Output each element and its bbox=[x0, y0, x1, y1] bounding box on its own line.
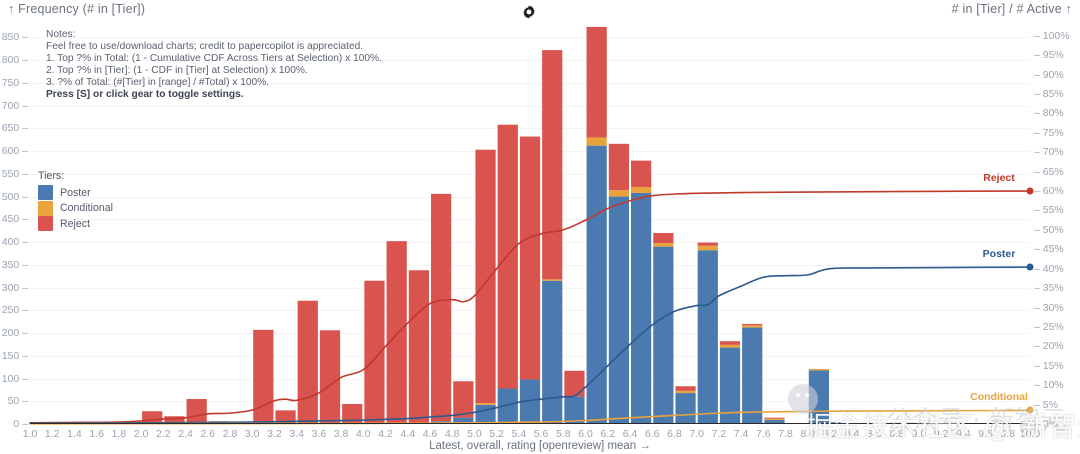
legend-swatch-conditional bbox=[38, 201, 53, 216]
x-axis-tick: 8.4 bbox=[845, 428, 860, 440]
x-axis-tick: 3.4 bbox=[289, 428, 304, 440]
y-axis-left-tick: 200 – bbox=[2, 327, 28, 339]
y-axis-right-tick: – 30% bbox=[1034, 302, 1064, 314]
x-axis-title: Latest, overall, rating [openreview] mea… bbox=[0, 440, 1080, 452]
y-axis-right-tick: – 10% bbox=[1034, 379, 1064, 391]
x-axis-tick: 2.0 bbox=[134, 428, 149, 440]
x-axis-tick: 8.6 bbox=[867, 428, 882, 440]
legend-swatch-poster bbox=[38, 185, 53, 200]
x-axis-tick: 7.6 bbox=[756, 428, 771, 440]
line-label-reject: Reject bbox=[983, 172, 1015, 184]
x-axis-tick: 4.4 bbox=[400, 428, 415, 440]
x-axis-tick: 1.4 bbox=[67, 428, 82, 440]
x-axis-tick: 2.2 bbox=[156, 428, 171, 440]
y-axis-right-tick: – 80% bbox=[1034, 107, 1064, 119]
legend-item-poster[interactable]: Poster bbox=[38, 185, 113, 201]
y-axis-right-tick: – 90% bbox=[1034, 69, 1064, 81]
y-axis-right-tick: – 70% bbox=[1034, 146, 1064, 158]
line-endpoint-conditional[interactable] bbox=[1027, 407, 1034, 414]
notes-bold-line: Press [S] or click gear to toggle settin… bbox=[46, 89, 244, 100]
x-axis-tick: 4.6 bbox=[423, 428, 438, 440]
x-axis-tick: 5.2 bbox=[489, 428, 504, 440]
x-axis-tick: 9.4 bbox=[956, 428, 971, 440]
line-label-poster: Poster bbox=[983, 248, 1016, 260]
x-axis-tick: 7.4 bbox=[734, 428, 749, 440]
x-axis-tick: 3.8 bbox=[334, 428, 349, 440]
x-axis-tick: 7.8 bbox=[778, 428, 793, 440]
y-axis-right-tick: – 60% bbox=[1034, 185, 1064, 197]
x-axis-tick: 6.8 bbox=[667, 428, 682, 440]
x-axis-line bbox=[30, 423, 1030, 425]
x-axis-tick: 8.2 bbox=[823, 428, 838, 440]
x-axis-tick: 3.0 bbox=[245, 428, 260, 440]
x-axis-tick: 8.0 bbox=[800, 428, 815, 440]
x-axis-tick: 8.8 bbox=[889, 428, 904, 440]
y-axis-left-tick: 800 – bbox=[2, 54, 28, 66]
y-axis-left-tick: 850 – bbox=[2, 31, 28, 43]
x-axis-tick: 9.6 bbox=[978, 428, 993, 440]
y-axis-left-tick: 600 – bbox=[2, 145, 28, 157]
x-axis-tick: 4.8 bbox=[445, 428, 460, 440]
y-axis-left-tick: 250 – bbox=[2, 304, 28, 316]
y-axis-left-tick: 450 – bbox=[2, 213, 28, 225]
y-axis-left-tick: 400 – bbox=[2, 236, 28, 248]
y-axis-right-tick: – 45% bbox=[1034, 243, 1064, 255]
notes-block: Notes: Feel free to use/download charts;… bbox=[46, 29, 382, 102]
y-axis-left-tick: 300 – bbox=[2, 282, 28, 294]
y-axis-right-tick: – 5% bbox=[1034, 399, 1058, 411]
x-axis-tick: 2.8 bbox=[223, 428, 238, 440]
x-axis-tick: 7.2 bbox=[712, 428, 727, 440]
legend-label-conditional: Conditional bbox=[60, 202, 113, 214]
x-axis-tick: 5.4 bbox=[512, 428, 527, 440]
x-axis-tick: 4.0 bbox=[356, 428, 371, 440]
x-axis-tick: 2.6 bbox=[200, 428, 215, 440]
y-axis-left-tick: 50 – bbox=[8, 395, 28, 407]
y-axis-right-tick: – 75% bbox=[1034, 127, 1064, 139]
x-axis-tick: 3.2 bbox=[267, 428, 282, 440]
y-axis-left-tick: 700 – bbox=[2, 100, 28, 112]
x-axis-tick: 9.2 bbox=[934, 428, 949, 440]
y-axis-left-tick: 750 – bbox=[2, 77, 28, 89]
legend: Tiers: Poster Conditional Reject bbox=[38, 170, 113, 232]
line-endpoint-reject[interactable] bbox=[1027, 188, 1034, 195]
y-axis-right-tick: – 40% bbox=[1034, 263, 1064, 275]
y-axis-right-tick: – 100% bbox=[1034, 30, 1070, 42]
y-axis-right-tick: – 50% bbox=[1034, 224, 1064, 236]
x-axis-tick: 6.6 bbox=[645, 428, 660, 440]
legend-title: Tiers: bbox=[38, 170, 113, 182]
chart-page: ↑ Frequency (# in [Tier]) # in [Tier] / … bbox=[0, 0, 1080, 454]
y-axis-left-title: ↑ Frequency (# in [Tier]) bbox=[8, 2, 145, 16]
x-axis-tick: 5.6 bbox=[534, 428, 549, 440]
gear-icon[interactable] bbox=[521, 4, 537, 20]
y-axis-left-tick: 350 – bbox=[2, 259, 28, 271]
x-axis-tick: 6.0 bbox=[578, 428, 593, 440]
x-axis-tick: 3.6 bbox=[312, 428, 327, 440]
y-axis-right-tick: – 55% bbox=[1034, 204, 1064, 216]
line-endpoint-poster[interactable] bbox=[1027, 264, 1034, 271]
line-label-conditional: Conditional bbox=[970, 391, 1028, 403]
y-axis-right-tick: – 25% bbox=[1034, 321, 1064, 333]
notes-text: Notes: Feel free to use/download charts;… bbox=[46, 29, 382, 88]
y-axis-right-tick: – 65% bbox=[1034, 166, 1064, 178]
y-axis-right-tick: – 85% bbox=[1034, 88, 1064, 100]
legend-item-conditional[interactable]: Conditional bbox=[38, 201, 113, 217]
legend-label-reject: Reject bbox=[60, 218, 90, 230]
x-axis-tick: 9.8 bbox=[1000, 428, 1015, 440]
y-axis-left-tick: 550 – bbox=[2, 168, 28, 180]
x-axis-tick: 5.8 bbox=[556, 428, 571, 440]
y-axis-right-tick: – 95% bbox=[1034, 49, 1064, 61]
y-axis-right-tick: – 20% bbox=[1034, 340, 1064, 352]
x-axis-tick: 1.2 bbox=[45, 428, 60, 440]
legend-label-poster: Poster bbox=[60, 187, 91, 199]
x-axis-tick: 1.8 bbox=[112, 428, 127, 440]
x-axis-tick: 10.0 bbox=[1020, 428, 1040, 440]
cdf-line-reject[interactable] bbox=[30, 191, 1030, 423]
x-axis-tick: 7.0 bbox=[689, 428, 704, 440]
y-axis-left-tick: 100 – bbox=[2, 373, 28, 385]
x-axis-tick: 1.6 bbox=[89, 428, 104, 440]
y-axis-right-title: # in [Tier] / # Active ↑ bbox=[952, 2, 1072, 16]
x-axis-tick: 6.4 bbox=[623, 428, 638, 440]
x-axis-tick: 4.2 bbox=[378, 428, 393, 440]
x-axis-tick: 9.0 bbox=[912, 428, 927, 440]
y-axis-left-tick: 650 – bbox=[2, 122, 28, 134]
y-axis-left-tick: 150 – bbox=[2, 350, 28, 362]
y-axis-left-tick: 500 – bbox=[2, 191, 28, 203]
x-axis-tick: 1.0 bbox=[23, 428, 38, 440]
y-axis-right-tick: – 35% bbox=[1034, 282, 1064, 294]
y-axis-right-tick: – 15% bbox=[1034, 360, 1064, 372]
legend-item-reject[interactable]: Reject bbox=[38, 216, 113, 232]
cdf-line-poster[interactable] bbox=[30, 267, 1030, 423]
x-axis-tick: 2.4 bbox=[178, 428, 193, 440]
x-axis-tick: 5.0 bbox=[467, 428, 482, 440]
legend-swatch-reject bbox=[38, 216, 53, 231]
x-axis-tick: 6.2 bbox=[600, 428, 615, 440]
